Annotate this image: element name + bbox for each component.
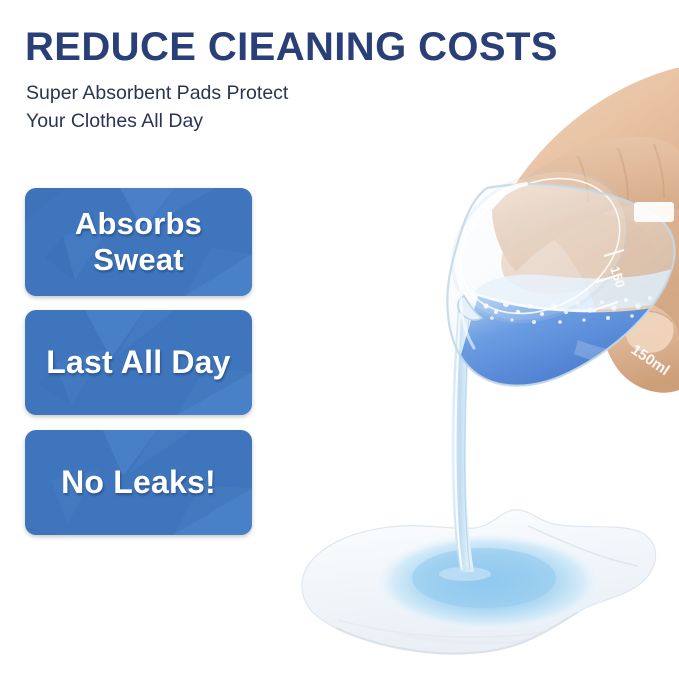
subtitle-line-1: Super Absorbent Pads Protect xyxy=(26,80,288,108)
absorbent-pad xyxy=(302,510,656,654)
feature-badge-label: Absorbs Sweat xyxy=(75,206,202,278)
product-infographic: REDUCE CIEANING COSTS Super Absorbent Pa… xyxy=(0,0,679,679)
feature-badge-absorbs-sweat[interactable]: Absorbs Sweat xyxy=(25,188,252,296)
feature-badge-last-all-day[interactable]: Last All Day xyxy=(25,310,252,415)
feature-badge-no-leaks[interactable]: No Leaks! xyxy=(25,430,252,535)
pouring-liquid-illustration: 150 150ml xyxy=(278,60,679,679)
beaker-label-sticker xyxy=(634,202,674,222)
absorbed-liquid-stain xyxy=(376,534,600,630)
feature-badge-label: No Leaks! xyxy=(61,464,216,501)
subtitle: Super Absorbent Pads Protect Your Clothe… xyxy=(26,80,288,135)
feature-badge-label: Last All Day xyxy=(46,344,230,381)
subtitle-line-2: Your Clothes All Day xyxy=(26,108,288,136)
product-photo: 150 150ml xyxy=(278,60,679,679)
